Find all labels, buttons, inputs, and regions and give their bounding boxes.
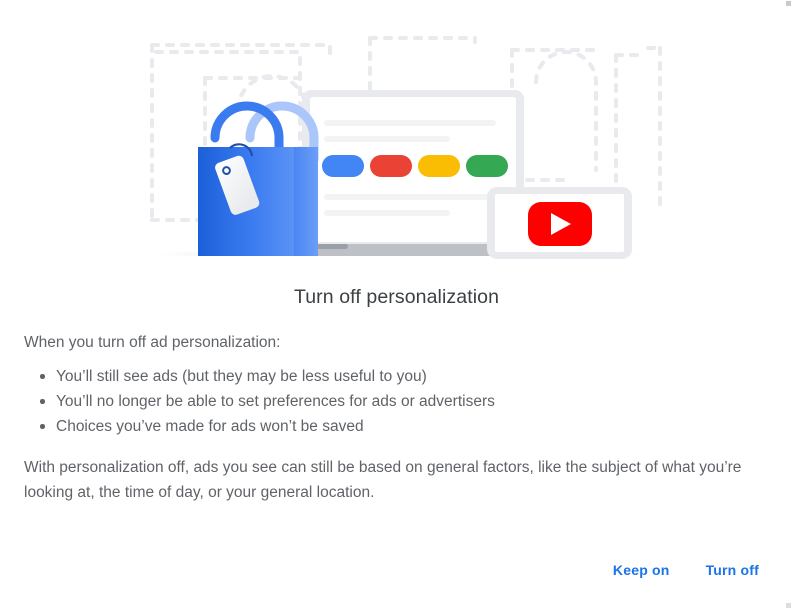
pill-blue: [322, 155, 364, 177]
scrollbar-top-nub[interactable]: [786, 1, 791, 6]
closing-text: With personalization off, ads you see ca…: [24, 455, 766, 505]
dialog-title: Turn off personalization: [0, 283, 793, 311]
shopping-bag-icon: [198, 106, 318, 256]
bullet-icon: [40, 374, 45, 379]
bullet-icon: [40, 424, 45, 429]
dialog-action-bar: Keep on Turn off: [603, 554, 769, 586]
dialog-body: When you turn off ad personalization: Yo…: [24, 330, 769, 505]
list-item-label: You’ll still see ads (but they may be le…: [56, 368, 427, 385]
content-line: [324, 194, 496, 200]
content-line: [324, 136, 450, 142]
keep-on-button[interactable]: Keep on: [603, 554, 680, 586]
scrollbar-bottom-nub[interactable]: [786, 603, 791, 608]
turn-off-button[interactable]: Turn off: [696, 554, 769, 586]
content-line: [324, 120, 496, 126]
intro-text: When you turn off ad personalization:: [24, 330, 769, 355]
turn-off-personalization-dialog: Turn off personalization When you turn o…: [0, 0, 793, 610]
list-item-label: Choices you’ve made for ads won’t be sav…: [56, 418, 364, 435]
ads-personalization-illustration: [0, 10, 793, 265]
consequences-list: You’ll still see ads (but they may be le…: [24, 364, 769, 439]
bullet-icon: [40, 399, 45, 404]
list-item: You’ll no longer be able to set preferen…: [24, 389, 769, 414]
bag-side: [294, 147, 318, 256]
video-player-icon: [487, 187, 632, 259]
list-item: Choices you’ve made for ads won’t be sav…: [24, 414, 769, 439]
list-item: You’ll still see ads (but they may be le…: [24, 364, 769, 389]
pill-red: [370, 155, 412, 177]
content-line: [324, 210, 450, 216]
pill-yellow: [418, 155, 460, 177]
list-item-label: You’ll no longer be able to set preferen…: [56, 393, 495, 410]
pill-green: [466, 155, 508, 177]
